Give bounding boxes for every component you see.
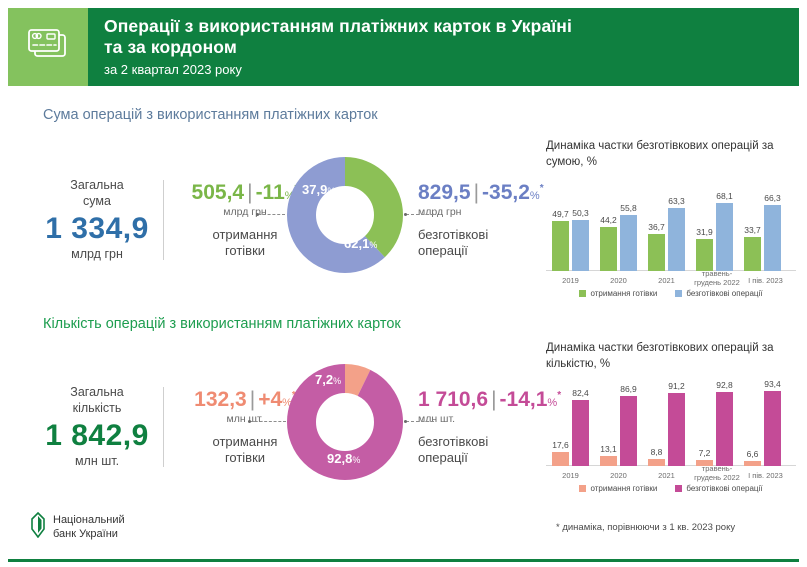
section-1-total: Загальнасума 1 334,9 млрд грн [22, 178, 172, 261]
header-title-line1: Операції з використанням платіжних карто… [104, 16, 799, 37]
leader-line-1-right [406, 214, 434, 215]
section-1-cashless-label-2: операції [418, 243, 468, 258]
chart-1-group-4: 33,7 66,3 [744, 205, 781, 271]
section-1-donut-label-cash: 37,9% [302, 182, 335, 197]
leader-dot-2-right [404, 420, 407, 423]
chart-1-legend-item-cash: отримання готівки [579, 289, 657, 298]
chart-2-group-0: 17,6 82,4 [552, 400, 589, 466]
chart-1-bar-cashless-3: 68,1 [716, 203, 733, 271]
section-2-cash-value: 132,3 [194, 388, 247, 411]
chart-share-by-amount: Динаміка частки безготівкових операцій з… [546, 139, 796, 298]
nbu-logo-line2: банк України [53, 528, 118, 540]
chart-2-bar-cashless-4: 93,4 [764, 391, 781, 466]
section-1-cashless-label-1: безготівкові [418, 227, 488, 242]
chart-2-xlabel-4: I пів. 2023 [742, 471, 789, 480]
legend-swatch-icon [579, 485, 586, 492]
leader-line-2-right [406, 421, 434, 422]
legend-swatch-icon [579, 290, 586, 297]
chart-1-group-0: 49,7 50,3 [552, 220, 589, 271]
leader-dot-1-left [256, 213, 259, 216]
section-1-cashless-delta: -35,2 [482, 181, 530, 204]
section-1-total-caption-1: Загальна [70, 178, 123, 192]
section-2-cash-delta: +4 [258, 388, 282, 411]
chart-2-legend-item-cash: отримання готівки [579, 484, 657, 493]
chart-1-bar-cashless-0: 50,3 [572, 220, 589, 271]
section-2-cashless-label-1: безготівкові [418, 434, 488, 449]
chart-1-bar-cash-3: 31,9 [696, 239, 713, 271]
chart-2-bar-cashless-1: 86,9 [620, 396, 637, 466]
section-1-donut-chart: 37,9% 62,1% [286, 156, 404, 274]
legend-swatch-icon [675, 485, 682, 492]
payment-cards-icon [25, 26, 71, 69]
section-2-cash-separator: | [247, 388, 258, 411]
chart-2-bar-cashless-0: 82,4 [572, 400, 589, 466]
chart-2-bar-cashless-2: 91,2 [668, 393, 685, 466]
chart-2-bar-cash-2: 8,8 [648, 459, 665, 466]
infographic-page: Операції з використанням платіжних карто… [0, 0, 807, 567]
chart-2-xlabel-0: 2019 [552, 471, 589, 480]
section-2-cash-label-2: готівки [225, 450, 265, 465]
chart-2-legend-item-cashless: безготівкові операції [675, 484, 762, 493]
chart-2-xlabel-2: 2021 [648, 471, 685, 480]
section-1-total-value: 1 334,9 [22, 212, 172, 246]
chart-1-group-3: 31,9 68,1 [696, 203, 733, 271]
section-2-total-unit: млн шт. [22, 454, 172, 468]
section-2-donut-label-cash: 7,2% [315, 372, 341, 387]
section-1-donut-label-cashless: 62,1% [344, 236, 377, 251]
chart-1-xlabel-4: I пів. 2023 [742, 276, 789, 285]
leader-dot-1-right [404, 213, 407, 216]
chart-1-bar-cash-0: 49,7 [552, 221, 569, 271]
chart-2-bar-cashless-3: 92,8 [716, 392, 733, 466]
section-2-cashless-separator: | [488, 388, 499, 411]
header-title-line2: та за кордоном [104, 37, 799, 58]
chart-2-bar-cash-1: 13,1 [600, 456, 617, 466]
chart-2-plot: 17,6 82,4 13,1 86,9 8,8 91,2 7,2 92,8 6,… [546, 382, 796, 480]
bottom-accent-bar [8, 559, 799, 562]
header: Операції з використанням платіжних карто… [8, 8, 799, 86]
chart-2-group-1: 13,1 86,9 [600, 396, 637, 466]
chart-2-group-4: 6,6 93,4 [744, 391, 781, 466]
section-1-divider [163, 180, 164, 260]
section-2-total: Загальнакількість 1 842,9 млн шт. [22, 385, 172, 468]
chart-1-xlabel-1: 2020 [600, 276, 637, 285]
leader-line-1-left [258, 214, 285, 215]
chart-1-xlabel-3: травень- грудень 2022 [684, 269, 750, 287]
chart-1-bar-cash-1: 44,2 [600, 227, 617, 271]
footnote: * динаміка, порівнюючи з 1 кв. 2023 року [556, 522, 735, 533]
chart-1-bar-cashless-2: 63,3 [668, 208, 685, 271]
chart-2-legend: отримання готівки безготівкові операції [546, 484, 796, 493]
section-1-cash-label-2: готівки [225, 243, 265, 258]
section-1-cash-separator: | [244, 181, 255, 204]
chart-share-by-count: Динаміка частки безготівкових операцій з… [546, 341, 796, 493]
chart-1-bar-cash-2: 36,7 [648, 234, 665, 271]
section-2-cashless-label-2: операції [418, 450, 468, 465]
chart-1-bar-cashless-4: 66,3 [764, 205, 781, 271]
chart-1-xlabel-2: 2021 [648, 276, 685, 285]
section-1-title: Сума операцій з використанням платіжних … [43, 107, 378, 123]
section-2-total-caption-1: Загальна [70, 385, 123, 399]
section-1-total-unit: млрд грн [22, 247, 172, 261]
header-text-container: Операції з використанням платіжних карто… [88, 8, 799, 86]
chart-1-group-1: 44,2 55,8 [600, 215, 637, 271]
legend-swatch-icon [675, 290, 682, 297]
section-1-cash-label-1: отримання [213, 227, 278, 242]
nbu-emblem-icon [30, 512, 46, 543]
section-2-total-value: 1 842,9 [22, 419, 172, 453]
chart-2-title: Динаміка частки безготівкових операцій з… [546, 341, 796, 372]
chart-1-plot: 49,7 50,3 44,2 55,8 36,7 63,3 31,9 68,1 … [546, 180, 796, 285]
section-2-cashless-value: 1 710,6 [418, 388, 488, 411]
section-2-total-caption-2: кількість [73, 401, 122, 415]
section-2-divider [163, 387, 164, 467]
section-1-cash-value: 505,4 [192, 181, 245, 204]
section-1-cashless-separator: | [471, 181, 482, 204]
nbu-logo-line1: Національний [53, 514, 125, 526]
chart-1-legend-item-cashless: безготівкові операції [675, 289, 762, 298]
section-2-cashless-delta: -14,1 [500, 388, 548, 411]
section-1-cashless-delta-suffix: % [530, 190, 540, 202]
section-2-title: Кількість операцій з використанням платі… [43, 316, 401, 332]
chart-2-xlabel-3: травень- грудень 2022 [684, 464, 750, 482]
header-subtitle: за 2 квартал 2023 року [104, 62, 799, 77]
chart-2-bar-cash-0: 17,6 [552, 452, 569, 466]
header-icon-container [8, 8, 88, 86]
leader-dot-2-left [248, 420, 251, 423]
chart-1-group-2: 36,7 63,3 [648, 208, 685, 271]
chart-1-legend: отримання готівки безготівкові операції [546, 289, 796, 298]
chart-2-group-2: 8,8 91,2 [648, 393, 685, 466]
chart-2-group-3: 7,2 92,8 [696, 392, 733, 466]
chart-2-xlabel-1: 2020 [600, 471, 637, 480]
section-2-cash-label-1: отримання [213, 434, 278, 449]
section-2-donut-chart: 7,2% 92,8% [286, 363, 404, 481]
section-1-total-caption-2: сума [83, 194, 111, 208]
chart-1-title: Динаміка частки безготівкових операцій з… [546, 139, 796, 170]
section-1-cashless-asterisk: * [540, 183, 544, 194]
chart-1-bar-cash-4: 33,7 [744, 237, 761, 271]
leader-line-2-left [250, 421, 286, 422]
chart-1-bar-cashless-1: 55,8 [620, 215, 637, 271]
section-1-cash-delta: -11 [256, 181, 285, 204]
section-2-donut-label-cashless: 92,8% [327, 451, 360, 466]
nbu-logo: Національнийбанк України [30, 512, 125, 543]
chart-1-xlabel-0: 2019 [552, 276, 589, 285]
section-1-cashless-value: 829,5 [418, 181, 471, 204]
